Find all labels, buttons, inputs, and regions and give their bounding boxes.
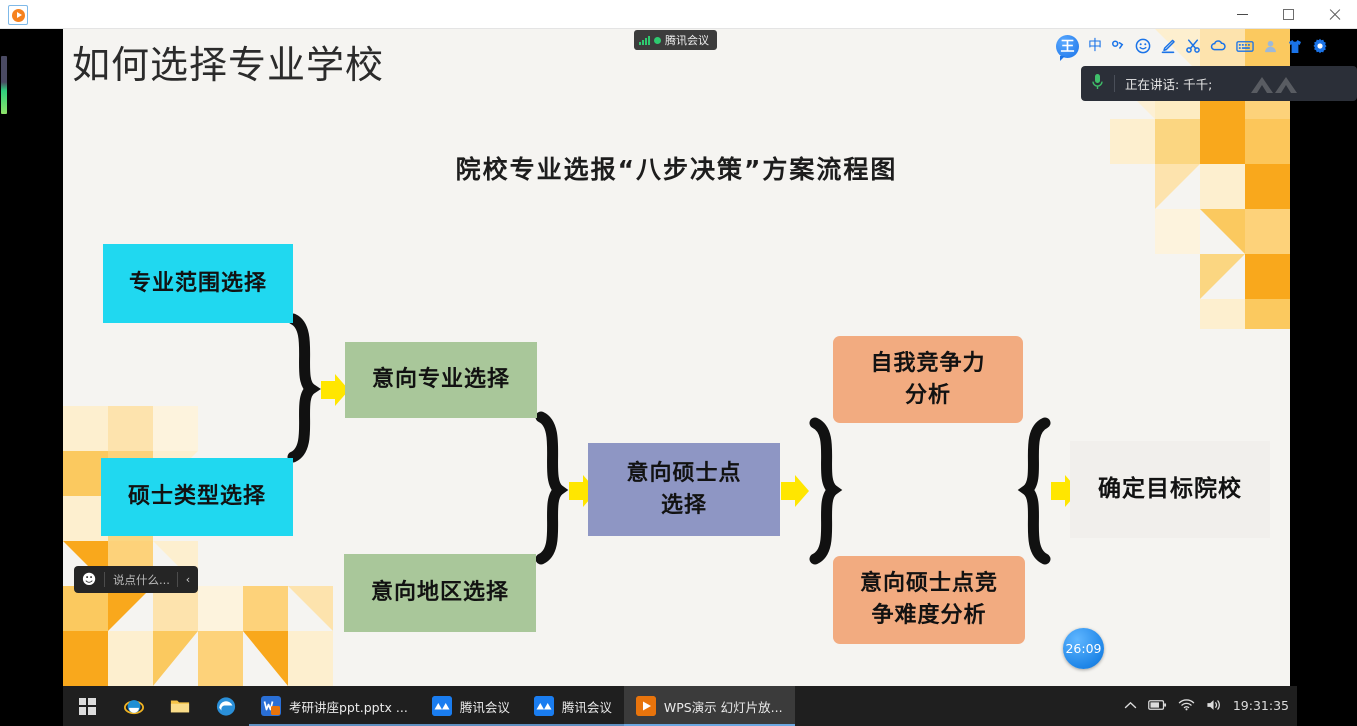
taskbar-item-file-explorer[interactable] <box>157 686 203 726</box>
start-button[interactable] <box>63 686 111 726</box>
ime-user-account-icon[interactable] <box>1263 39 1278 54</box>
taskbar-label: 考研讲座ppt.pptx ... <box>289 697 408 716</box>
ime-logo-icon[interactable]: 王 <box>1056 35 1079 58</box>
taskbar-label: WPS演示 幻灯片放... <box>664 697 783 716</box>
taskbar-right-gap <box>1297 686 1357 726</box>
meeting-chat-input[interactable]: ☻ 说点什么... ‹ <box>74 566 198 593</box>
tencent-meeting-icon <box>534 696 554 716</box>
flow-box-program-difficulty[interactable]: 意向硕士点竞 争难度分析 <box>833 556 1025 644</box>
screen-root: 如何选择专业学校 院校专业选报“八步决策”方案流程图 <box>0 0 1357 726</box>
taskbar-label: 腾讯会议 <box>460 697 510 716</box>
speaking-toast-text: 正在讲话: 千千; <box>1125 74 1212 93</box>
flow-box-intended-region[interactable]: 意向地区选择 <box>344 554 536 632</box>
maximize-button[interactable] <box>1265 0 1311 29</box>
ime-skin-shirt-icon[interactable] <box>1287 39 1303 54</box>
ie-icon <box>124 696 144 716</box>
tray-volume-icon[interactable] <box>1206 698 1222 715</box>
wps-icon <box>261 696 281 716</box>
tencent-meeting-icon <box>432 696 452 716</box>
ime-screenshot-scissors-icon[interactable] <box>1185 38 1201 54</box>
signal-bars-icon <box>639 36 650 45</box>
ime-mode-chinese-icon[interactable]: 中 <box>1088 39 1102 53</box>
flow-connectors <box>63 29 1290 686</box>
edge-icon <box>216 696 236 716</box>
tray-expand-chevron-icon[interactable] <box>1124 699 1137 713</box>
taskbar-item-wps-pptx[interactable]: 考研讲座ppt.pptx ... <box>249 686 420 726</box>
taskbar-item-tencent-meeting-2[interactable]: 腾讯会议 <box>522 686 624 726</box>
chat-placeholder[interactable]: 说点什么... <box>105 572 177 588</box>
ime-emoji-icon[interactable] <box>1135 38 1151 54</box>
wps-play-icon <box>8 5 28 25</box>
flow-box-intended-program[interactable]: 意向硕士点 选择 <box>588 443 780 536</box>
status-dot-icon <box>654 37 661 44</box>
collapse-chevron-icon[interactable]: ‹ <box>178 573 198 586</box>
windows-logo-icon <box>79 698 96 715</box>
meeting-badge-label: 腾讯会议 <box>665 32 709 48</box>
taskbar-item-tencent-meeting-1[interactable]: 腾讯会议 <box>420 686 522 726</box>
flow-box-self-competitiveness[interactable]: 自我竞争力 分析 <box>833 336 1023 423</box>
taskbar-item-internet-explorer[interactable] <box>111 686 157 726</box>
ime-punctuation-icon[interactable] <box>1111 39 1126 54</box>
taskbar-item-wps-slideshow[interactable]: WPS演示 幻灯片放... <box>624 686 795 726</box>
system-tray[interactable]: 19:31:35 <box>1112 686 1297 726</box>
taskbar-item-microsoft-edge[interactable] <box>203 686 249 726</box>
speaking-toast[interactable]: 正在讲话: 千千; <box>1081 66 1357 101</box>
microphone-icon <box>1091 73 1104 95</box>
ime-soft-keyboard-icon[interactable] <box>1236 39 1254 53</box>
ime-toolbar-top[interactable]: 王 中 <box>1049 32 1335 60</box>
slide-progress-bar <box>1 56 7 114</box>
ime-cloud-icon[interactable] <box>1210 38 1227 54</box>
taskbar-clock[interactable]: 19:31:35 <box>1233 699 1289 713</box>
ime-settings-gear-icon[interactable] <box>1312 38 1328 54</box>
taskbar-left-gap <box>0 686 63 726</box>
taskbar-label: 腾讯会议 <box>562 697 612 716</box>
window-titlebar <box>0 0 1357 29</box>
windows-taskbar[interactable]: 考研讲座ppt.pptx ... 腾讯会议 腾讯会议 WPS演示 幻灯片放... <box>0 686 1357 726</box>
slide-canvas[interactable]: 如何选择专业学校 院校专业选报“八步决策”方案流程图 <box>63 29 1290 686</box>
flow-box-intended-major[interactable]: 意向专业选择 <box>345 342 537 418</box>
divider <box>1114 75 1115 92</box>
ime-handwriting-pen-icon[interactable] <box>1160 38 1176 54</box>
emoji-icon[interactable]: ☻ <box>74 572 104 588</box>
tray-wifi-icon[interactable] <box>1178 698 1195 714</box>
close-button[interactable] <box>1311 0 1357 29</box>
tencent-meeting-floating-badge[interactable]: 腾讯会议 <box>634 30 717 50</box>
flow-box-master-type[interactable]: 硕士类型选择 <box>101 458 293 536</box>
flow-box-target-school[interactable]: 确定目标院校 <box>1070 441 1270 538</box>
window-controls <box>1219 0 1357 29</box>
wps-play-icon <box>636 696 656 716</box>
folder-icon <box>170 696 190 716</box>
tray-battery-icon[interactable] <box>1148 699 1167 714</box>
minimize-button[interactable] <box>1219 0 1265 29</box>
slideshow-stage[interactable]: 如何选择专业学校 院校专业选报“八步决策”方案流程图 <box>0 29 1357 686</box>
tencent-meeting-watermark-icon <box>1249 75 1301 99</box>
meeting-timer-badge[interactable]: 26:09 <box>1063 628 1104 669</box>
flow-box-major-scope[interactable]: 专业范围选择 <box>103 244 293 323</box>
